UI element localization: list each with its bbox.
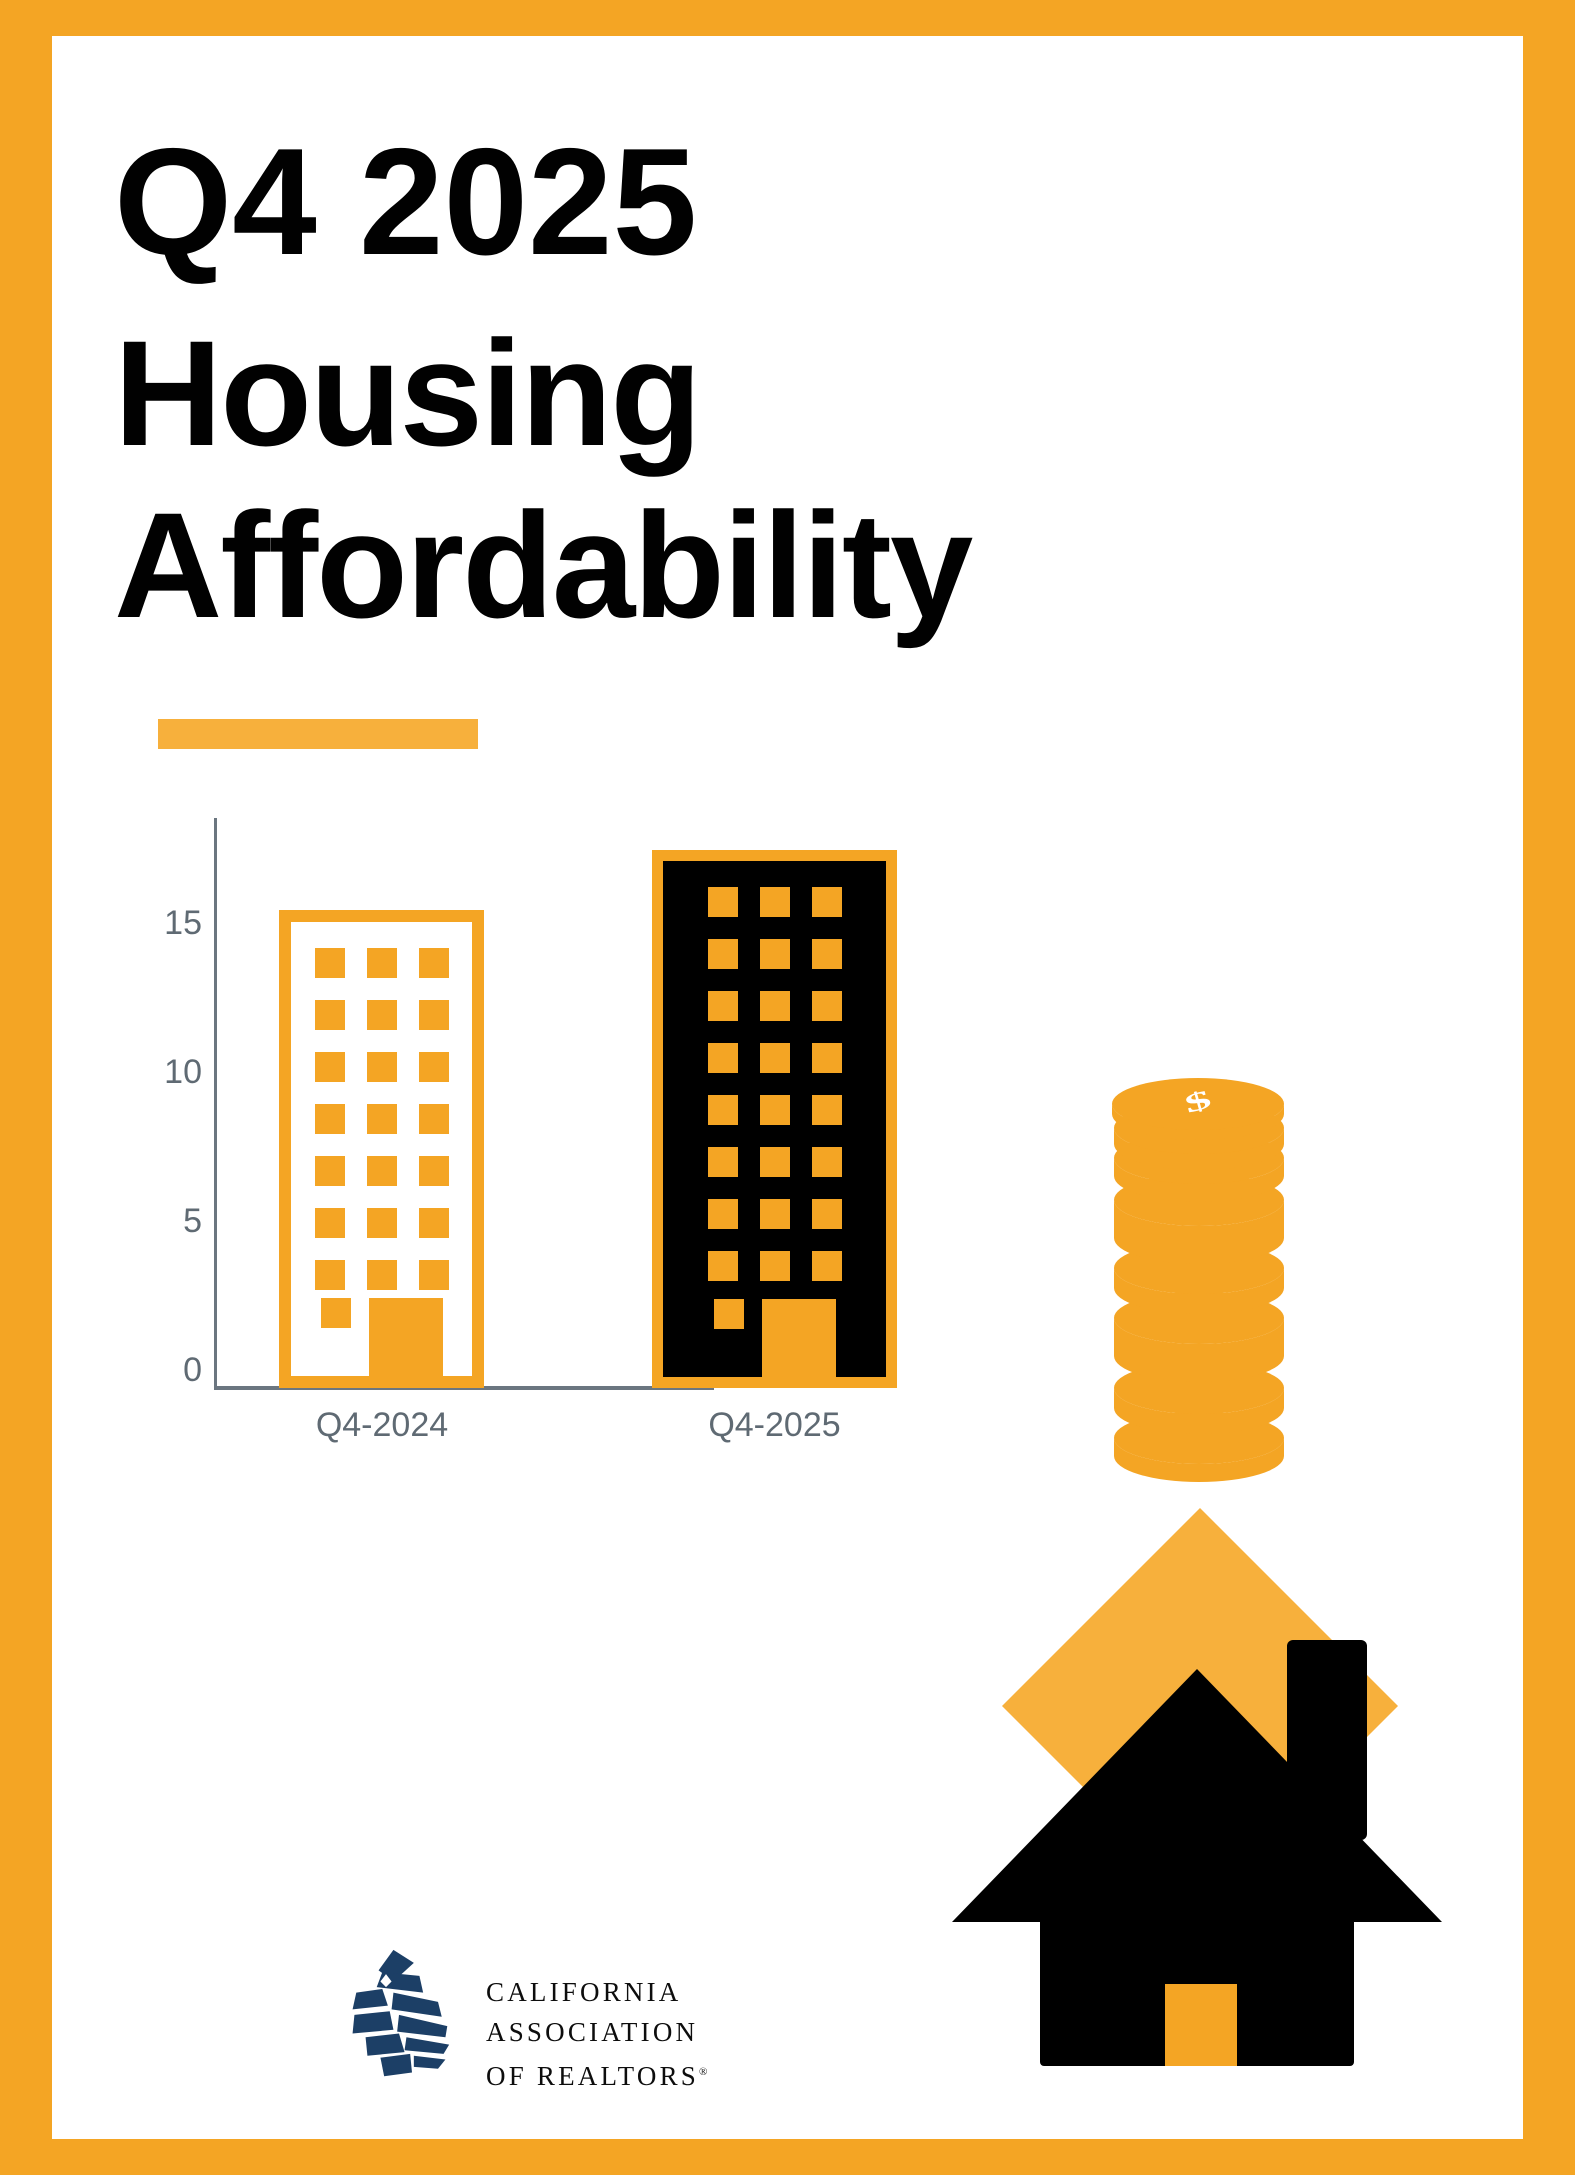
- window-cell: [708, 1095, 738, 1125]
- window-cell: [708, 991, 738, 1021]
- window-cell: [315, 1260, 345, 1290]
- window-cell: [760, 1251, 790, 1281]
- window-cell: [760, 1095, 790, 1125]
- window-cell: [367, 948, 397, 978]
- window-cell: [367, 1052, 397, 1082]
- poster-frame: Q4 2025 Housing Affordability 15 10 5 0 …: [0, 0, 1575, 2175]
- y-axis-line: [214, 818, 217, 1388]
- window-cell: [367, 1208, 397, 1238]
- window-cell: [812, 939, 842, 969]
- window-cell: [708, 1251, 738, 1281]
- window-cell: [812, 887, 842, 917]
- window-cell: [367, 1260, 397, 1290]
- car-logo-mark: [334, 1944, 464, 2084]
- building-door-row-q4-2024: [321, 1298, 443, 1376]
- window-cell: [315, 948, 345, 978]
- logo-text-block: CALIFORNIA ASSOCIATION OF REALTORS®: [486, 1972, 711, 2096]
- window-cell: [760, 939, 790, 969]
- window-cell: [419, 1156, 449, 1186]
- x-axis-label-q4-2025: Q4-2025: [652, 1406, 897, 1445]
- window-cell: [812, 1043, 842, 1073]
- window-cell: [812, 1095, 842, 1125]
- window-cell: [760, 991, 790, 1021]
- window-cell: [708, 939, 738, 969]
- window-cell: [315, 1000, 345, 1030]
- window-cell: [419, 1104, 449, 1134]
- window-cell: [714, 1299, 744, 1329]
- poster-inner-canvas: Q4 2025 Housing Affordability 15 10 5 0 …: [52, 36, 1523, 2139]
- window-cell: [367, 1156, 397, 1186]
- window-cell: [708, 1043, 738, 1073]
- window-cell: [812, 991, 842, 1021]
- window-cell: [708, 887, 738, 917]
- house-door: [1165, 1984, 1237, 2066]
- building-door-row-q4-2025: [714, 1299, 836, 1377]
- window-cell: [315, 1104, 345, 1134]
- window-cell: [760, 1147, 790, 1177]
- bar-q4-2025[interactable]: [652, 850, 897, 1388]
- window-cell: [708, 1199, 738, 1229]
- logo-line-association: ASSOCIATION: [486, 2012, 711, 2052]
- building-door: [369, 1298, 443, 1376]
- title-housing: Housing: [114, 318, 1064, 468]
- window-cell: [760, 1199, 790, 1229]
- window-cell: [419, 1208, 449, 1238]
- coin-stack-icon: $: [1084, 1056, 1314, 1496]
- title-accent-bar: [158, 719, 478, 749]
- building-door: [762, 1299, 836, 1377]
- logo-line-california: CALIFORNIA: [486, 1972, 711, 2012]
- california-association-of-realtors-logo: CALIFORNIA ASSOCIATION OF REALTORS®: [334, 1924, 734, 2139]
- logo-line-of-realtors-text: OF REALTORS: [486, 2061, 699, 2091]
- title-block: Q4 2025 Housing Affordability: [114, 126, 1064, 640]
- window-cell: [708, 1147, 738, 1177]
- x-axis-label-q4-2024: Q4-2024: [262, 1406, 502, 1445]
- window-cell: [812, 1251, 842, 1281]
- affordability-bar-chart: 15 10 5 0 16%: [52, 796, 772, 1436]
- window-cell: [760, 1043, 790, 1073]
- window-cell: [419, 1000, 449, 1030]
- house-icon: [952, 1506, 1442, 2066]
- title-affordability: Affordability: [114, 490, 1064, 640]
- window-cell: [315, 1052, 345, 1082]
- window-cell: [812, 1147, 842, 1177]
- window-cell: [321, 1298, 351, 1328]
- window-cell: [367, 1000, 397, 1030]
- window-cell: [367, 1104, 397, 1134]
- window-cell: [419, 1052, 449, 1082]
- window-cell: [419, 1260, 449, 1290]
- window-cell: [315, 1208, 345, 1238]
- registered-trademark-icon: ®: [699, 2066, 711, 2078]
- window-cell: [760, 887, 790, 917]
- title-quarter: Q4 2025: [114, 126, 1064, 278]
- window-cell: [315, 1156, 345, 1186]
- logo-line-of-realtors: OF REALTORS®: [486, 2052, 711, 2096]
- window-cell: [812, 1199, 842, 1229]
- window-cell: [419, 948, 449, 978]
- bar-q4-2024[interactable]: [279, 910, 484, 1388]
